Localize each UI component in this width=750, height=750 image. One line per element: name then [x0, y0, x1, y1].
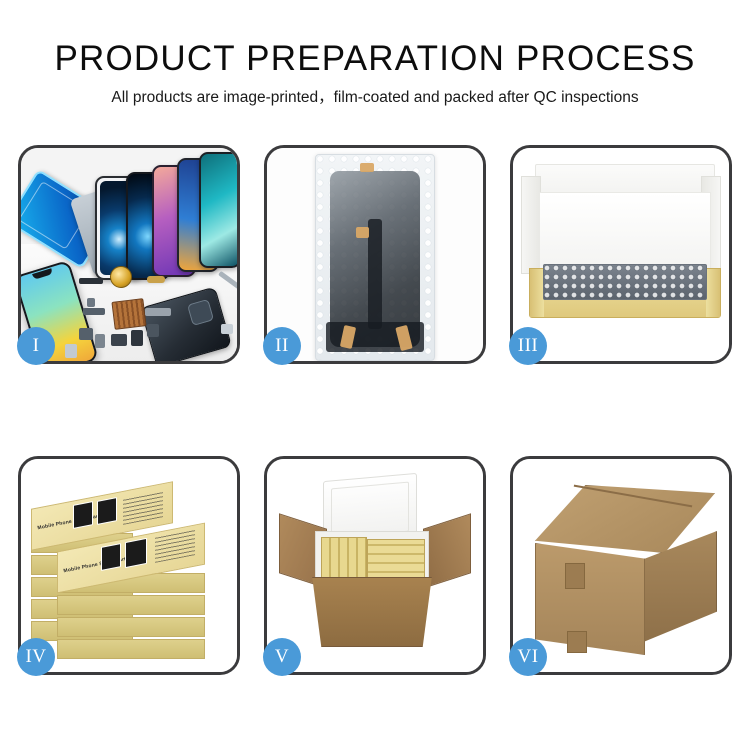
step-card-4: Mobile Phone Spare Parts Mobile Phone Sp… [18, 456, 240, 675]
small-part-icon [87, 298, 95, 307]
page-header: PRODUCT PREPARATION PROCESS All products… [0, 0, 750, 108]
yellow-boxes-left-group [321, 537, 367, 581]
box-edge [57, 617, 205, 637]
tape-piece-icon [360, 163, 374, 172]
small-part-icon [79, 328, 93, 340]
box-stack: Mobile Phone Spare Parts Mobile Phone Sp… [27, 477, 235, 663]
small-part-icon [83, 308, 105, 315]
bubble-wrapped-screen-image [267, 148, 483, 361]
step-badge-2: II [263, 327, 301, 365]
bubble-wrap-bag [315, 154, 435, 361]
carton-front-panel [535, 543, 645, 655]
yellow-boxes-right-group [367, 539, 425, 581]
box-left-flap [521, 176, 541, 274]
step-badge-1: I [17, 327, 55, 365]
step-badge-6: VI [509, 638, 547, 676]
step-card-2: II [264, 145, 486, 364]
small-part-icon [145, 308, 171, 316]
step-badge-3: III [509, 327, 547, 365]
process-steps-grid: I II III [18, 145, 732, 675]
step-card-6: VI [510, 456, 732, 675]
small-part-icon [65, 344, 77, 358]
foam-lined-open-box-image [513, 148, 729, 361]
small-part-icon [147, 276, 165, 283]
stacked-printed-boxes-image: Mobile Phone Spare Parts Mobile Phone Sp… [21, 459, 237, 672]
small-part-icon [147, 324, 159, 337]
box-print-thumbnail [101, 543, 121, 571]
box-edge [57, 595, 205, 615]
carton-tape-lower [567, 631, 587, 653]
bubble-wrap-fill [543, 264, 707, 300]
box-print-thumbnail [73, 501, 93, 529]
step-card-3: III [510, 145, 732, 364]
carton-with-foam-insert-image [267, 459, 483, 672]
box-edge [57, 639, 205, 659]
step-card-1: I [18, 145, 240, 364]
page-title: PRODUCT PREPARATION PROCESS [0, 38, 750, 80]
step-badge-5: V [263, 638, 301, 676]
phone-parts-flatlay-image [21, 148, 237, 361]
page-subtitle: All products are image-printed，film-coat… [0, 88, 750, 108]
small-part-icon [111, 334, 127, 346]
step-card-5: V [264, 456, 486, 675]
small-part-icon [79, 278, 103, 284]
tape-piece-icon [356, 227, 369, 238]
teal-phone-icon [199, 152, 237, 268]
sealed-shipping-carton-image [513, 459, 729, 672]
box-print-thumbnail [97, 497, 117, 525]
flex-cable-icon [368, 219, 382, 329]
small-part-icon [221, 324, 233, 334]
circuit-board-icon [111, 298, 146, 330]
box-print-thumbnail [125, 538, 147, 568]
small-part-icon [131, 330, 143, 346]
carton-tape-upper [565, 563, 585, 589]
carton-front-panel [307, 577, 437, 647]
vibration-motor-icon [110, 266, 132, 288]
step-badge-4: IV [17, 638, 55, 676]
small-part-icon [95, 334, 105, 348]
